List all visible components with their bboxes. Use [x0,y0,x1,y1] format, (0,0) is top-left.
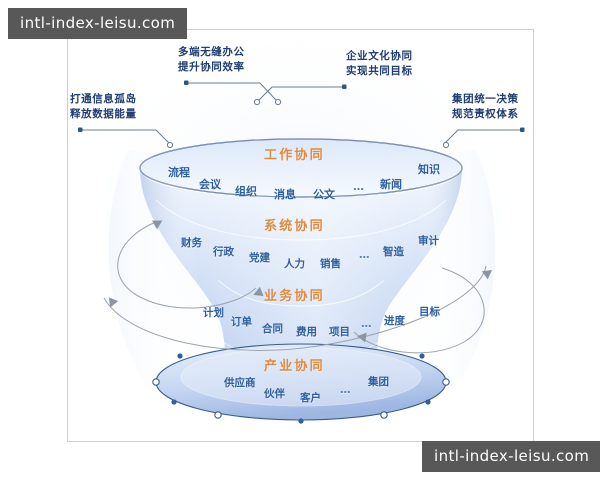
tag-industry-3: … [340,384,352,396]
leader-mid-left [186,83,276,100]
tag-work-7: 知识 [418,161,440,177]
tag-industry-2: 客户 [300,390,321,405]
tag-business-0: 计划 [203,305,224,320]
callout-mid-left: 多端无缝办公 提升协同效率 [178,45,245,75]
tag-business-6: 进度 [384,313,405,328]
watermark-bottom: intl-index-leisu.com [422,441,600,472]
callout-right-top-line2: 规范责权体系 [452,107,519,122]
callout-mid-right: 企业文化协同 实现共同目标 [346,49,413,79]
ring-title-work: 工作协同 [264,144,325,163]
tag-business-3: 费用 [296,324,317,339]
leader-end-circles [167,99,448,147]
tag-industry-4: 集团 [368,374,389,389]
ring-title-business: 业务协同 [264,285,325,304]
callout-right-top-line1: 集团统一决策 [452,92,519,107]
tag-system-0: 财务 [181,235,202,250]
leader-mid-right [259,87,344,100]
callout-right-top: 集团统一决策 规范责权体系 [452,92,519,122]
tag-work-0: 流程 [168,164,190,180]
tag-system-7: 审计 [418,233,439,248]
callout-left-top: 打通信息孤岛 释放数据能量 [70,92,137,122]
ring-title-industry: 产业协同 [264,355,325,374]
tag-work-4: 公文 [313,186,335,202]
tag-industry-1: 伙伴 [264,386,285,401]
diagram-frame: 打通信息孤岛 释放数据能量 多端无缝办公 提升协同效率 企业文化协同 实现共同目… [67,29,534,442]
callout-mid-left-line2: 提升协同效率 [178,60,245,75]
tag-work-5: … [353,180,366,193]
tag-business-4: 项目 [329,324,350,339]
diagram-canvas: 打通信息孤岛 释放数据能量 多端无缝办公 提升协同效率 企业文化协同 实现共同目… [68,30,533,441]
tag-system-4: 销售 [320,256,341,271]
leader-right-top [445,130,523,143]
callout-mid-right-line1: 企业文化协同 [346,49,413,64]
callout-mid-left-line1: 多端无缝办公 [178,45,245,60]
tag-work-2: 组织 [235,183,257,199]
tag-work-6: 新闻 [380,176,402,192]
tag-business-2: 合同 [262,321,283,336]
ring-title-system: 系统协同 [264,215,325,234]
watermark-top: intl-index-leisu.com [8,8,187,39]
callout-left-top-line1: 打通信息孤岛 [70,92,137,107]
callout-left-top-line2: 释放数据能量 [70,107,137,122]
callout-mid-right-line2: 实现共同目标 [346,64,413,79]
leader-left-top [80,130,169,143]
tag-system-2: 党建 [249,250,270,265]
tag-system-6: 智造 [383,244,404,259]
tag-system-3: 人力 [284,256,305,271]
tag-business-1: 订单 [231,314,252,329]
tag-work-3: 消息 [274,186,296,202]
tag-work-1: 会议 [199,176,221,192]
tag-system-5: … [359,249,371,261]
tag-business-7: 目标 [419,304,440,319]
tag-industry-0: 供应商 [224,375,256,390]
tag-business-5: … [361,318,373,330]
tag-system-1: 行政 [213,244,234,259]
